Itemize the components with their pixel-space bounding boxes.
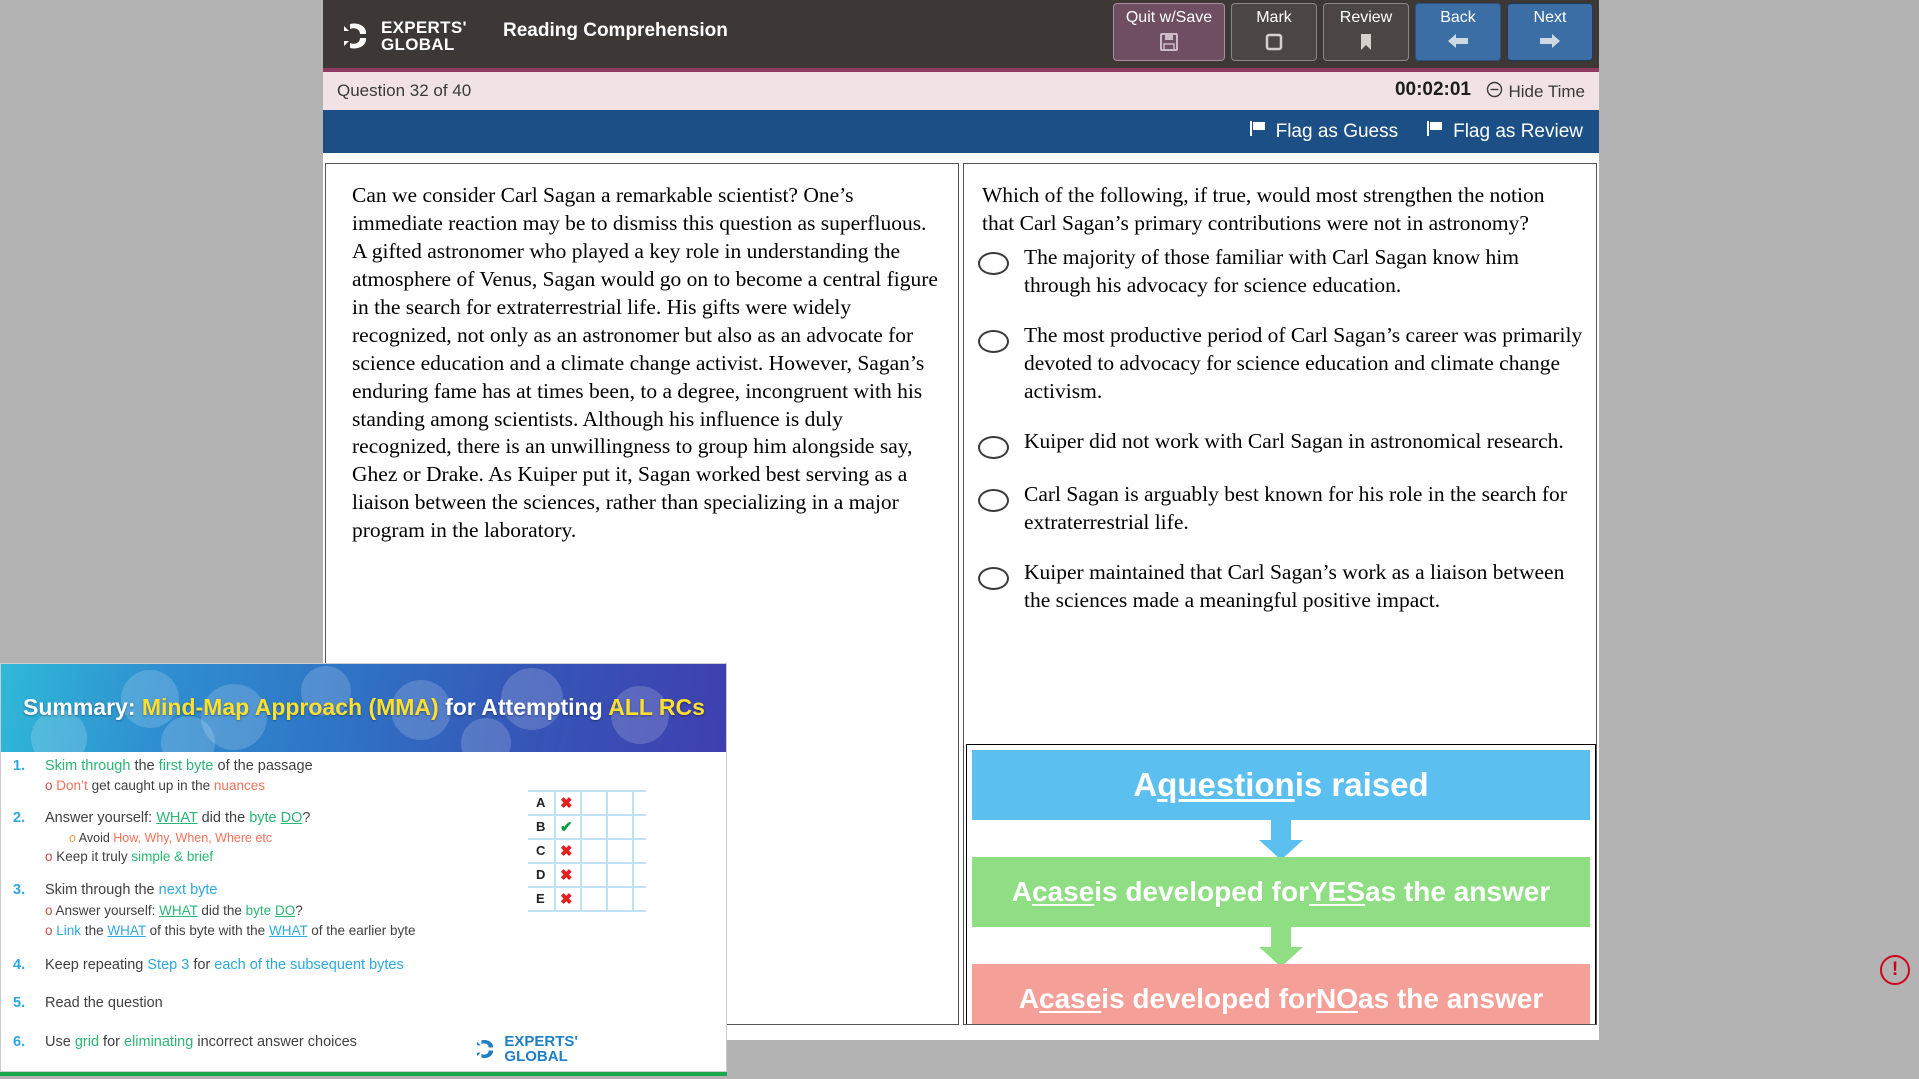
flow-box-no-underlined: case [1039,983,1101,1015]
grid-mark-d-cross-icon: ✖ [560,866,573,884]
step-1-number: 1. [13,758,25,774]
answer-option-c-text: Kuiper did not work with Carl Sagan in a… [1024,428,1584,456]
flow-box-yes-mid: is developed for [1094,876,1309,908]
slide-banner: Summary: Mind-Map Approach (MMA) for Att… [1,664,727,752]
slide-brand-logo: EXPERTS' GLOBAL [472,1034,578,1064]
question-stem: Which of the following, if true, would m… [982,182,1582,237]
radio-button-c[interactable] [978,436,1009,459]
passage-text: Can we consider Carl Sagan a remarkable … [352,182,942,545]
grid-mark-a-cross-icon: ✖ [560,794,573,812]
flag-as-guess-button[interactable]: Flag as Guess [1249,120,1399,143]
answer-option-d-text: Carl Sagan is arguably best known for hi… [1024,481,1584,537]
radio-button-d[interactable] [978,489,1009,512]
hide-time-button[interactable]: Hide Time [1486,81,1585,103]
question-counter: Question 32 of 40 [337,81,471,101]
header-button-row: Quit w/Save Mark Review Back [1113,3,1593,61]
grid-row-label-a: A [536,795,545,810]
review-label: Review [1340,9,1392,27]
quit-with-save-button[interactable]: Quit w/Save [1113,3,1225,61]
next-label: Next [1534,9,1567,27]
slide-logo-line-2: GLOBAL [504,1049,578,1064]
slide-title-highlight-2: ALL RCs [608,694,705,720]
bookmark-icon [1356,32,1376,57]
answer-option-a[interactable]: The majority of those familiar with Carl… [978,244,1586,300]
radio-button-a[interactable] [978,252,1009,275]
flag-as-review-button[interactable]: Flag as Review [1426,120,1583,143]
mark-label: Mark [1256,9,1292,27]
flow-box-yes-underlined: case [1032,876,1094,908]
flow-box-question-suffix: is raised [1295,766,1429,804]
answer-options-list: The majority of those familiar with Carl… [978,244,1586,636]
step-6-text: Use grid for eliminating incorrect answe… [45,1034,357,1050]
grid-row-label-c: C [536,843,545,858]
radio-button-b[interactable] [978,330,1009,353]
save-icon [1159,32,1179,57]
answer-option-b-text: The most productive period of Carl Sagan… [1024,322,1584,406]
brand-line-2: GLOBAL [381,36,467,53]
radio-button-e[interactable] [978,567,1009,590]
flow-box-no-mid: is developed for [1101,983,1316,1015]
elimination-grid: A B C D E ✖ ✔ ✖ ✖ ✖ [528,790,648,912]
flow-box-no-underlined2: NO [1316,983,1358,1015]
exclamation-icon: ! [1892,959,1898,981]
grid-row-label-b: B [536,819,545,834]
flow-box-no-suffix: as the answer [1358,983,1543,1015]
step-3-number: 3. [13,882,25,898]
step-2-sub-2: o Keep it truly simple & brief [45,849,213,864]
question-panel: Which of the following, if true, would m… [963,163,1597,1025]
page-title: Reading Comprehension [503,20,728,42]
flow-arrow-1-stem [1271,820,1291,842]
flow-box-yes-suffix: as the answer [1365,876,1550,908]
flow-box-no-prefix: A [1019,983,1039,1015]
step-4-text: Keep repeating Step 3 for each of the su… [45,957,404,973]
minus-circle-icon [1486,81,1503,103]
step-2-sub-1: o Avoid How, Why, When, Where etc [69,831,272,845]
grid-mark-e-cross-icon: ✖ [560,890,573,908]
brand-logo: EXPERTS' GLOBAL [337,13,487,59]
slide-title-highlight-1: Mind-Map Approach (MMA) [142,694,439,720]
grid-mark-b-check-icon: ✔ [560,818,573,836]
answer-option-a-text: The majority of those familiar with Carl… [1024,244,1584,300]
step-3-sub-1: o Answer yourself: WHAT did the byte DO? [45,903,303,918]
slide-bottom-accent [0,1072,727,1076]
flow-box-yes: A case is developed for YES as the answe… [972,857,1590,927]
square-icon [1264,32,1284,57]
error-badge[interactable]: ! [1880,955,1910,985]
slide-title-part-1: Summary: [23,694,142,720]
arrow-left-icon [1446,32,1470,55]
step-5-number: 5. [13,995,25,1011]
answer-option-d[interactable]: Carl Sagan is arguably best known for hi… [978,481,1586,537]
hide-time-label: Hide Time [1508,82,1585,102]
flow-arrow-2-stem [1271,927,1291,949]
slide-title: Summary: Mind-Map Approach (MMA) for Att… [23,694,705,721]
flow-box-question: A question is raised [972,750,1590,820]
step-4-number: 4. [13,957,25,973]
answer-option-c[interactable]: Kuiper did not work with Carl Sagan in a… [978,428,1586,459]
flag-as-guess-label: Flag as Guess [1276,121,1399,143]
slide-title-part-2: for Attempting [439,694,609,720]
slide-logo-line-1: EXPERTS' [504,1034,578,1049]
step-3-text: Skim through the next byte [45,882,218,898]
review-button[interactable]: Review [1323,3,1409,61]
quit-with-save-label: Quit w/Save [1126,9,1212,27]
flag-as-review-label: Flag as Review [1453,121,1583,143]
answer-option-e[interactable]: Kuiper maintained that Carl Sagan’s work… [978,559,1586,615]
status-strip: Question 32 of 40 00:02:01 Hide Time [323,72,1599,110]
step-2-text: Answer yourself: WHAT did the byte DO? [45,810,310,826]
flow-box-no: A case is developed for NO as the answer [972,964,1590,1025]
experts-global-logo-icon [337,18,373,54]
flow-diagram-overlay: A question is raised A case is developed… [966,744,1596,1025]
experts-global-logo-icon [472,1036,498,1062]
step-1-sub-1: o Don’t get caught up in the nuances [45,778,265,793]
grid-row-label-e: E [536,891,545,906]
step-2-number: 2. [13,810,25,826]
mark-button[interactable]: Mark [1231,3,1317,61]
arrow-right-icon [1538,32,1562,55]
next-button[interactable]: Next [1507,3,1593,61]
back-button[interactable]: Back [1415,3,1501,61]
app-header: EXPERTS' GLOBAL Reading Comprehension Qu… [323,0,1599,72]
flow-box-yes-prefix: A [1012,876,1032,908]
flow-box-question-underlined: question [1157,766,1295,804]
step-1-text: Skim through the first byte of the passa… [45,758,313,774]
step-5-text: Read the question [45,995,163,1011]
brand-line-1: EXPERTS' [381,19,467,36]
timer-display: 00:02:01 [1395,79,1471,101]
grid-row-label-d: D [536,867,545,882]
step-3-sub-2: o Link the WHAT of this byte with the WH… [45,923,416,938]
answer-option-e-text: Kuiper maintained that Carl Sagan’s work… [1024,559,1584,615]
grid-mark-c-cross-icon: ✖ [560,842,573,860]
flow-box-question-prefix: A [1133,766,1157,804]
step-6-number: 6. [13,1034,25,1050]
flag-icon [1249,120,1268,143]
answer-option-b[interactable]: The most productive period of Carl Sagan… [978,322,1586,406]
back-label: Back [1440,9,1476,27]
flag-bar: Flag as Guess Flag as Review [323,110,1599,153]
flag-icon [1426,120,1445,143]
flow-box-yes-underlined2: YES [1309,876,1365,908]
